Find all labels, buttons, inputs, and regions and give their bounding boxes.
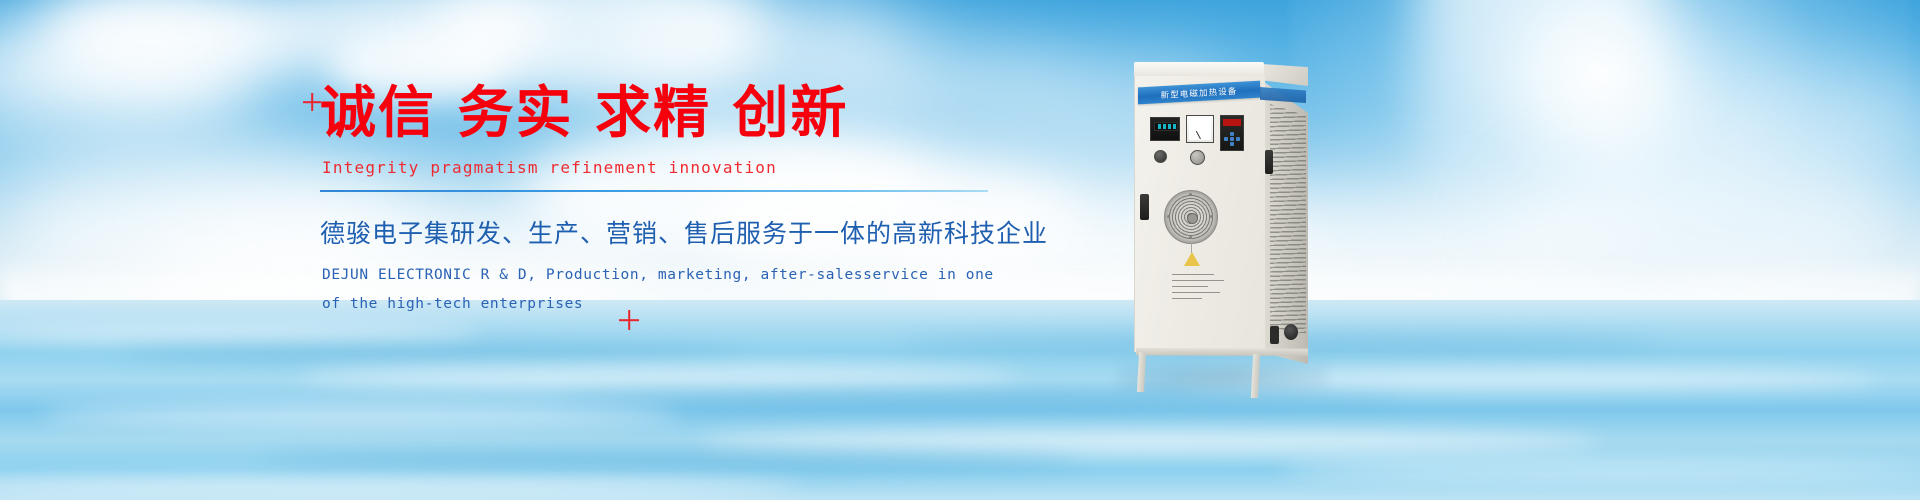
control-keypad: [1220, 115, 1244, 151]
wave-highlight: [700, 430, 1600, 454]
wave-highlight: [0, 476, 800, 496]
machine-port: [1270, 326, 1279, 344]
banner-subtitle-en-line1: DEJUN ELECTRONIC R & D, Production, mark…: [322, 262, 1020, 289]
wave-highlight: [0, 324, 480, 342]
wave-highlight: [40, 404, 680, 426]
machine-louvers: [1270, 104, 1306, 334]
meter-display: [1154, 122, 1178, 131]
banner-copy: 诚信 务实 求精 创新 Integrity pragmatism refinem…: [320, 86, 1020, 318]
banner-subtitle-cn: 德骏电子集研发、生产、营销、售后服务于一体的高新科技企业: [320, 214, 1020, 250]
door-handle: [1265, 150, 1273, 174]
wave-highlight: [1280, 460, 1920, 480]
wave-shadow: [120, 346, 740, 360]
machine-top-side: [1262, 64, 1308, 86]
wave-highlight: [300, 366, 1020, 386]
machine-label-text: 新型电磁加热设备: [1161, 84, 1238, 100]
banner-headline-cn: 诚信 务实 求精 创新: [320, 86, 1020, 142]
wave-shadow: [260, 452, 1080, 470]
rotary-knob: [1190, 150, 1205, 165]
sea-background: [0, 300, 1920, 500]
selector-knob: [1154, 150, 1167, 163]
banner-subtitle-en-line2: of the high-tech enterprises: [322, 291, 1020, 318]
machine-spec-text: [1172, 274, 1230, 304]
wave-shadow: [560, 392, 1400, 408]
hero-banner: 诚信 务实 求精 创新 Integrity pragmatism refinem…: [0, 0, 1920, 500]
fan-hub: [1187, 213, 1198, 224]
keypad-keys: [1224, 132, 1240, 146]
analog-gauge: [1186, 115, 1214, 143]
warning-triangle-icon: [1184, 252, 1200, 266]
banner-headline-en: Integrity pragmatism refinement innovati…: [322, 158, 1020, 177]
machine-outlet: [1284, 324, 1298, 340]
plus-mark-icon: [303, 93, 321, 111]
machine-base-rail: [1136, 348, 1308, 356]
digital-meter: [1150, 117, 1180, 141]
product-machine: 新型电磁加热设备: [1124, 62, 1324, 392]
cooling-fan: [1164, 190, 1218, 244]
divider-rule: [320, 190, 988, 192]
machine-shadow: [1118, 362, 1328, 392]
keypad-display: [1223, 119, 1241, 126]
front-vent-slot: [1140, 194, 1149, 220]
